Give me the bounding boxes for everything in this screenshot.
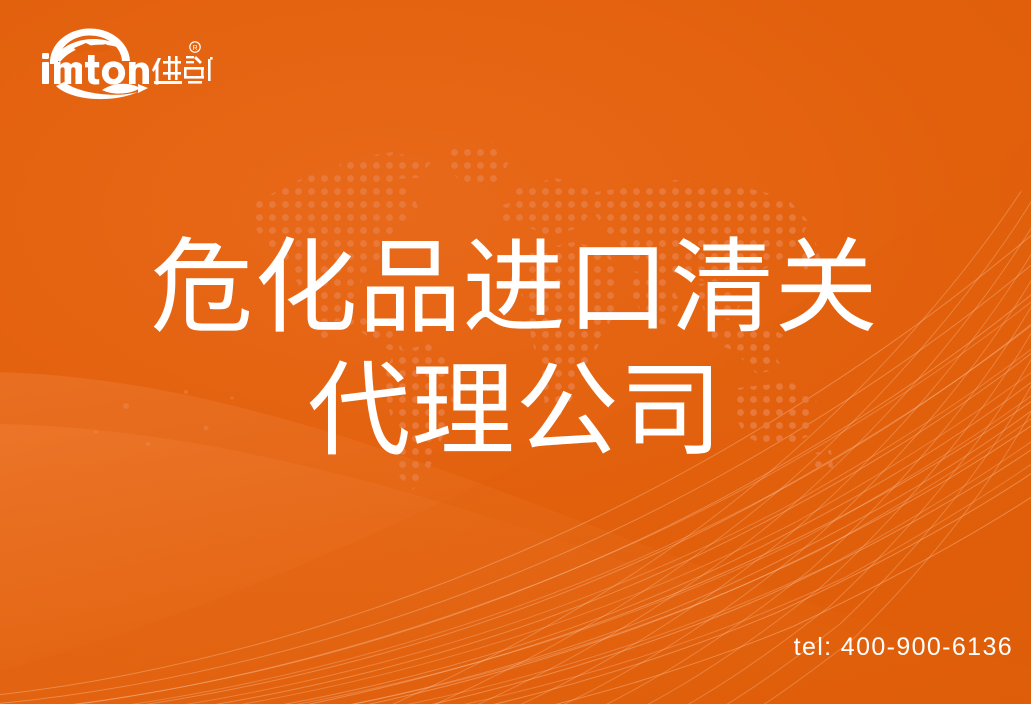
svg-text:R: R bbox=[192, 45, 197, 52]
page-title-line-1: 危化品进口清关 bbox=[0, 228, 1031, 349]
page-title: 危化品进口清关 代理公司 bbox=[0, 228, 1031, 471]
logo-chinese-name bbox=[152, 56, 213, 85]
contact-phone[interactable]: tel: 400-900-6136 bbox=[794, 633, 1013, 662]
page-title-line-2: 代理公司 bbox=[0, 351, 1031, 472]
poster-root: R 危化品进口清关 代理公司 tel: 400-900-6136 bbox=[0, 0, 1031, 704]
registered-trademark-icon: R bbox=[190, 42, 200, 52]
imton-logo[interactable]: R bbox=[34, 28, 214, 100]
fish-swoosh-icon bbox=[56, 82, 148, 99]
